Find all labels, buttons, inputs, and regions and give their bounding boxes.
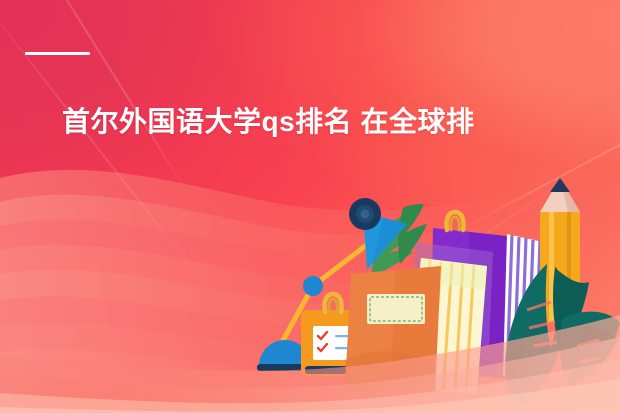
page-title: 首尔外国语大学qs排名 在全球排 [62, 104, 532, 140]
bottom-wave-ribbons [0, 293, 620, 413]
banner-image: 首尔外国语大学qs排名 在全球排 [0, 0, 620, 413]
paperclip-icon [446, 212, 463, 230]
title-divider-rule [25, 52, 90, 55]
